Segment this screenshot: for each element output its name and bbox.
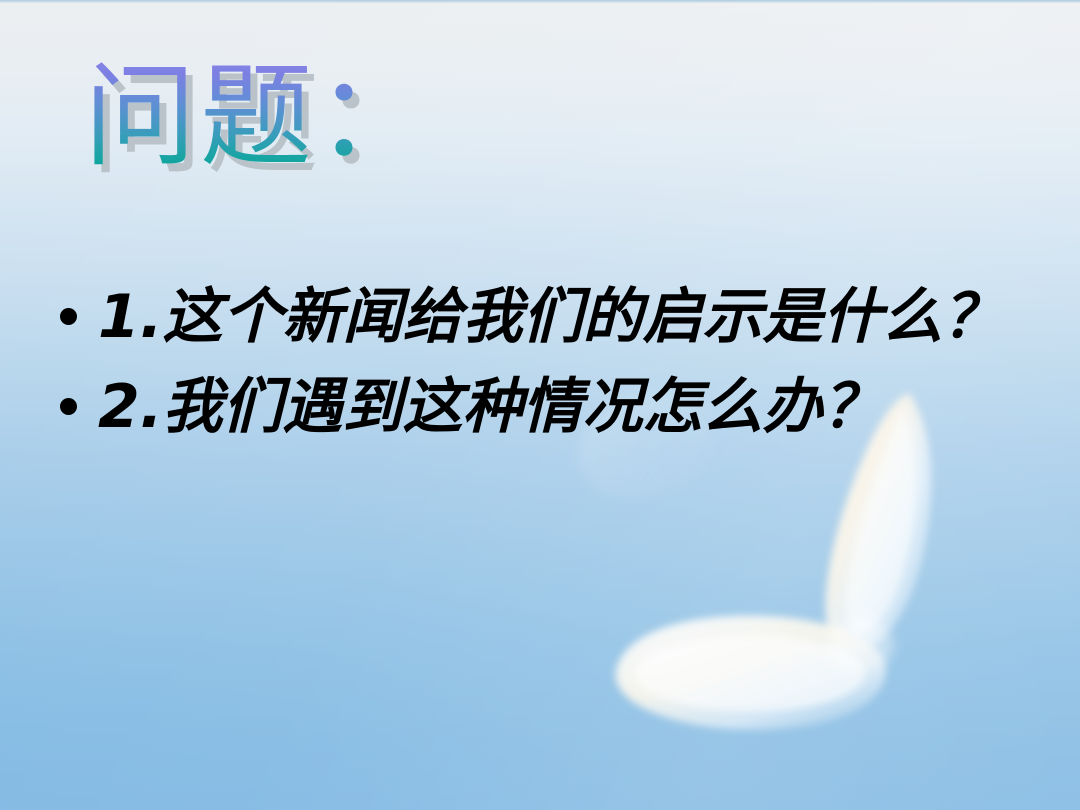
bullet-icon xyxy=(60,398,77,415)
slide-title: 问题： 问题： xyxy=(84,58,432,177)
question-list: 1.这个新闻给我们的启示是什么？ 2.我们遇到这种情况怎么办？ xyxy=(52,280,1052,459)
presentation-slide: 问题： 问题： 1.这个新闻给我们的启示是什么？ 2.我们遇到这种情况怎么办？ xyxy=(0,0,1080,810)
bullet-icon xyxy=(60,308,77,325)
slide-title-text: 问题： xyxy=(84,52,432,182)
top-accent-rule xyxy=(0,0,1080,3)
list-item: 2.我们遇到这种情况怎么办？ xyxy=(52,370,1052,446)
list-item-label: 1.这个新闻给我们的启示是什么？ xyxy=(98,282,1003,352)
list-item-label: 2.我们遇到这种情况怎么办？ xyxy=(98,372,883,442)
list-item: 1.这个新闻给我们的启示是什么？ xyxy=(52,280,1052,356)
